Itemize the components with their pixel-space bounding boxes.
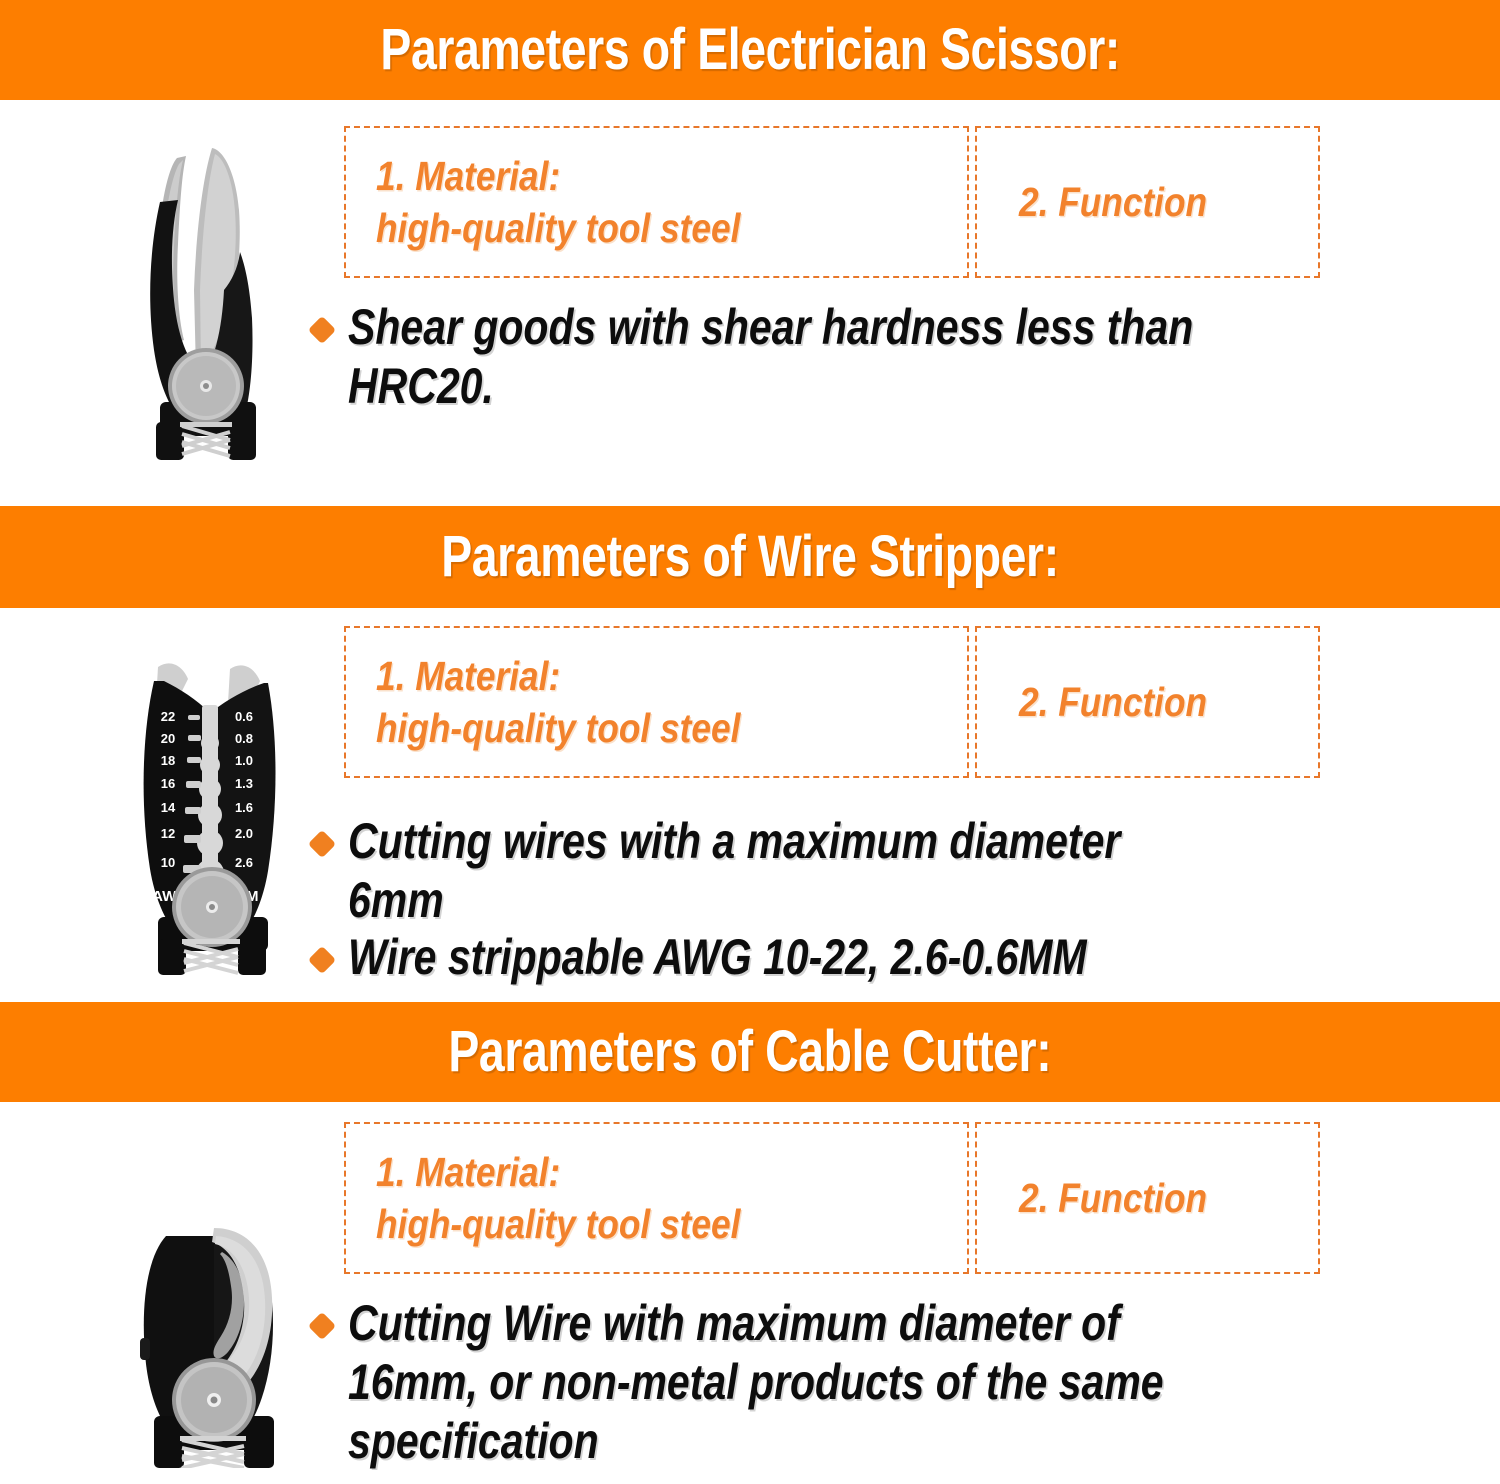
bullet-text: Shear goods with shear hardness less tha…	[348, 298, 1193, 416]
mm-value: 1.3	[235, 776, 253, 791]
mm-value: 1.0	[235, 753, 253, 768]
electrician-scissor-icon	[120, 140, 300, 460]
bullet-text: Cutting wires with a maximum diameter 6m…	[348, 812, 1120, 930]
mm-value: 2.6	[235, 855, 253, 870]
mm-value: 1.6	[235, 800, 253, 815]
function-box-cutter: 2. Function	[975, 1122, 1320, 1274]
bullet-text: Wire strippable AWG 10-22, 2.6-0.6MM	[348, 928, 1087, 987]
infographic-page: Parameters of Electrician Scissor:	[0, 0, 1500, 1484]
material-label-scissor: 1. Material: high-quality tool steel	[376, 150, 740, 255]
list-item: Cutting wires with a maximum diameter 6m…	[312, 812, 1432, 930]
scissor-svg	[120, 140, 300, 460]
diamond-bullet-icon	[308, 830, 336, 858]
awg-value: 20	[161, 731, 175, 746]
banner-title-scissor: Parameters of Electrician Scissor:	[380, 21, 1119, 79]
banner-title-cutter: Parameters of Cable Cutter:	[449, 1023, 1052, 1081]
material-box-stripper: 1. Material: high-quality tool steel	[344, 626, 969, 778]
list-item: Wire strippable AWG 10-22, 2.6-0.6MM	[312, 928, 1432, 987]
section-banner-cutter: Parameters of Cable Cutter:	[0, 1002, 1500, 1102]
awg-value: 14	[161, 800, 176, 815]
bullet-list-stripper: Cutting wires with a maximum diameter 6m…	[312, 812, 1432, 989]
list-item: Shear goods with shear hardness less tha…	[312, 298, 1432, 416]
function-box-stripper: 2. Function	[975, 626, 1320, 778]
param-boxrow-cutter: 1. Material: high-quality tool steel 2. …	[344, 1122, 1320, 1274]
function-box-scissor: 2. Function	[975, 126, 1320, 278]
material-label-stripper: 1. Material: high-quality tool steel	[376, 650, 740, 755]
bullet-list-scissor: Shear goods with shear hardness less tha…	[312, 298, 1432, 418]
diamond-bullet-icon	[308, 946, 336, 974]
param-boxrow-stripper: 1. Material: high-quality tool steel 2. …	[344, 626, 1320, 778]
list-item: Cutting Wire with maximum diameter of 16…	[312, 1294, 1432, 1471]
mm-value: 0.6	[235, 709, 253, 724]
awg-value: 18	[161, 753, 175, 768]
awg-value: 12	[161, 826, 175, 841]
diamond-bullet-icon	[308, 1312, 336, 1340]
material-box-scissor: 1. Material: high-quality tool steel	[344, 126, 969, 278]
mm-value: 2.0	[235, 826, 253, 841]
cable-cutter-svg	[118, 1218, 318, 1468]
material-box-cutter: 1. Material: high-quality tool steel	[344, 1122, 969, 1274]
param-boxrow-scissor: 1. Material: high-quality tool steel 2. …	[344, 126, 1320, 278]
bullet-text: Cutting Wire with maximum diameter of 16…	[348, 1294, 1164, 1471]
awg-value: 16	[161, 776, 175, 791]
section-banner-stripper: Parameters of Wire Stripper:	[0, 506, 1500, 608]
material-label-cutter: 1. Material: high-quality tool steel	[376, 1146, 740, 1251]
mm-value: 0.8	[235, 731, 253, 746]
cable-cutter-icon	[118, 1218, 318, 1468]
section-banner-scissor: Parameters of Electrician Scissor:	[0, 0, 1500, 100]
function-label-scissor: 2. Function	[1019, 176, 1207, 228]
awg-value: 10	[161, 855, 175, 870]
function-label-stripper: 2. Function	[1019, 676, 1207, 728]
awg-value: 22	[161, 709, 175, 724]
wire-stripper-icon: 22 20 18 16 14 12 10 AWG 0.6 0.8 1.0 1.3…	[118, 655, 308, 975]
diamond-bullet-icon	[308, 316, 336, 344]
banner-title-stripper: Parameters of Wire Stripper:	[441, 528, 1059, 586]
bullet-list-cutter: Cutting Wire with maximum diameter of 16…	[312, 1294, 1432, 1473]
function-label-cutter: 2. Function	[1019, 1172, 1207, 1224]
wire-stripper-svg: 22 20 18 16 14 12 10 AWG 0.6 0.8 1.0 1.3…	[118, 655, 308, 975]
